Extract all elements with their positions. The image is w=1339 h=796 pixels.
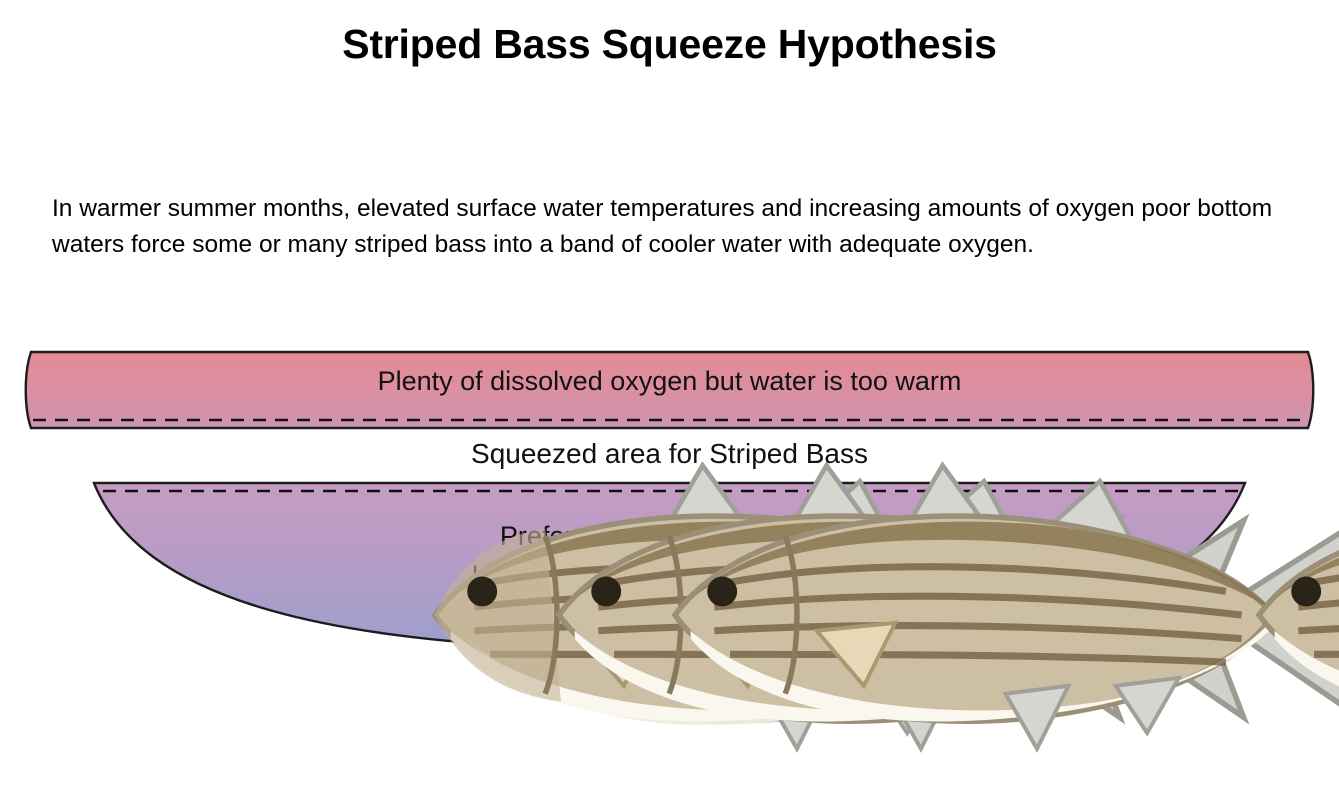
- warm-water-layer: [26, 352, 1314, 428]
- page-title: Striped Bass Squeeze Hypothesis: [0, 22, 1339, 67]
- warm-layer-shape: [26, 352, 1314, 428]
- cold-water-layer: [94, 483, 1245, 650]
- intro-paragraph: In warmer summer months, elevated surfac…: [52, 191, 1286, 263]
- cold-layer-shape: [94, 483, 1245, 650]
- striped-bass-squeeze-diagram: Plenty of dissolved oxygen but water is …: [0, 330, 1339, 692]
- diagram-canvas: [0, 330, 1339, 692]
